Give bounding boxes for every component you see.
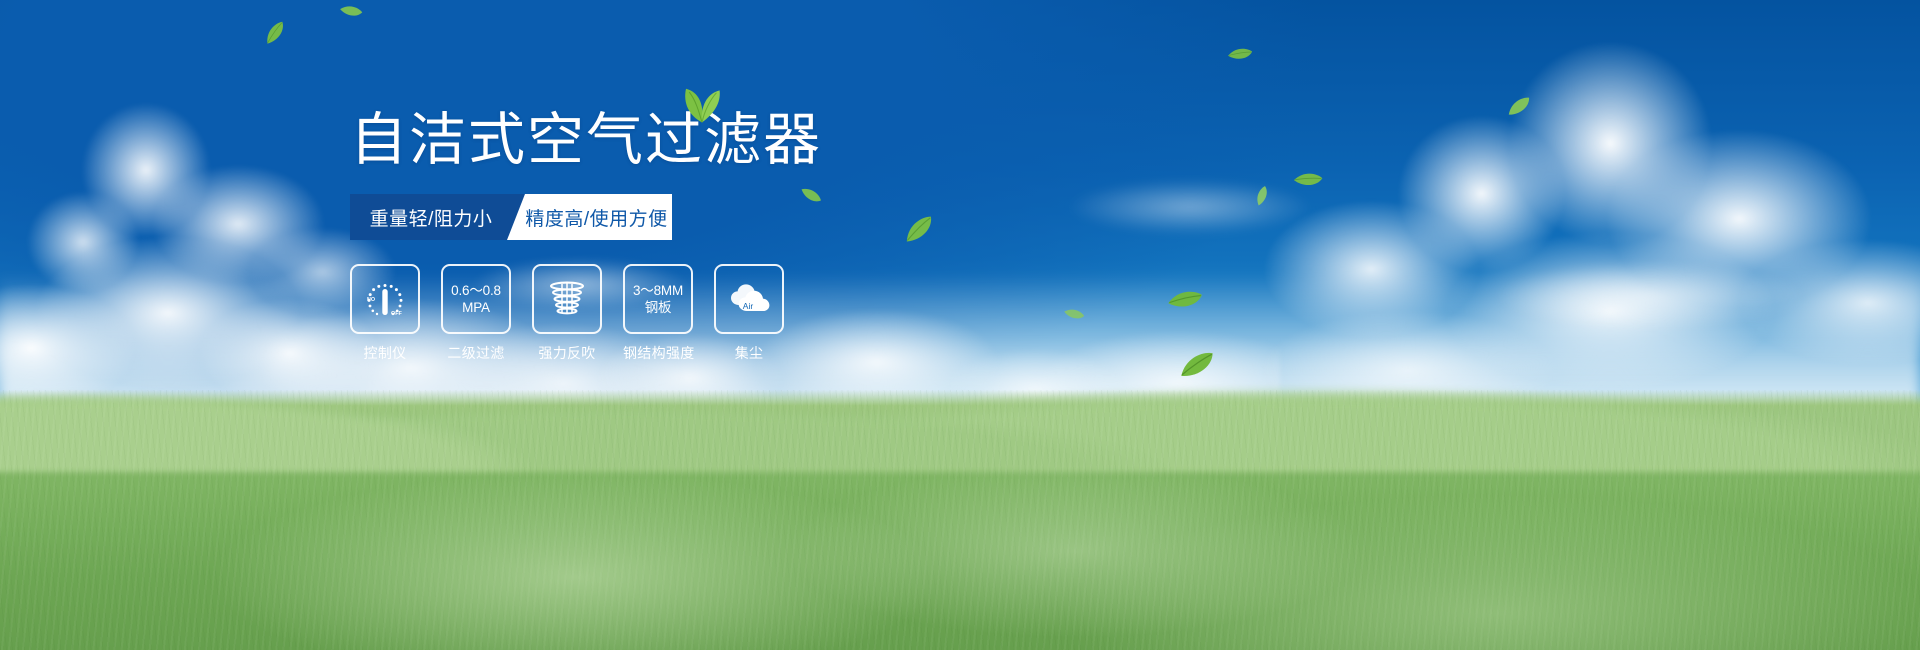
feature-box-backblow[interactable] [532,264,602,334]
grass-field [0,390,1920,650]
feature-label-steel-strength: 钢结构强度 [623,343,693,363]
title-row: 自洁式空气过滤器 [350,104,970,178]
feature-box-controller[interactable]: NO OFF [350,264,420,334]
banner-content: 自洁式空气过滤器 重量轻/阻力小 精度高/使用方便 [350,104,970,363]
air-cloud-icon: Air [725,275,773,323]
gauge-dial-icon: NO OFF [361,275,409,323]
feature-item: 强力反吹 [532,264,602,363]
hero-banner: 自洁式空气过滤器 重量轻/阻力小 精度高/使用方便 [0,0,1920,650]
feature-label-two-stage-filtration: 二级过滤 [441,343,511,363]
pressure-value: 0.6～0.8 [451,282,501,299]
feature-label-dust-collection: 集尘 [714,343,784,363]
title-leaf-icon [678,84,726,124]
filter-coil-icon [543,275,591,323]
steel-material: 钢板 [645,299,672,316]
feature-item: 0.6～0.8 MPA 二级过滤 [441,264,511,363]
feature-item: 3～8MM 钢板 钢结构强度 [623,264,693,363]
feature-item: NO OFF 控制仪 [350,264,420,363]
svg-text:NO: NO [367,297,375,303]
pressure-unit: MPA [462,299,490,316]
svg-text:OFF: OFF [391,311,402,317]
feature-box-pressure[interactable]: 0.6～0.8 MPA [441,264,511,334]
feature-box-steel-plate[interactable]: 3～8MM 钢板 [623,264,693,334]
feature-box-dust-collection[interactable]: Air [714,264,784,334]
feature-item: Air 集尘 [714,264,784,363]
svg-text:Air: Air [743,301,754,311]
feature-list: NO OFF 控制仪 0.6～0.8 MPA 二级过滤 [350,264,970,363]
tab-high-precision-easy-use[interactable]: 精度高/使用方便 [507,194,672,240]
tab-lightweight-low-resistance[interactable]: 重量轻/阻力小 [350,194,526,240]
page-title: 自洁式空气过滤器 [350,104,970,176]
steel-thickness: 3～8MM [633,282,683,299]
tab-group: 重量轻/阻力小 精度高/使用方便 [350,194,672,240]
feature-label-controller: 控制仪 [350,343,420,363]
feature-label-strong-backblow: 强力反吹 [532,343,602,363]
